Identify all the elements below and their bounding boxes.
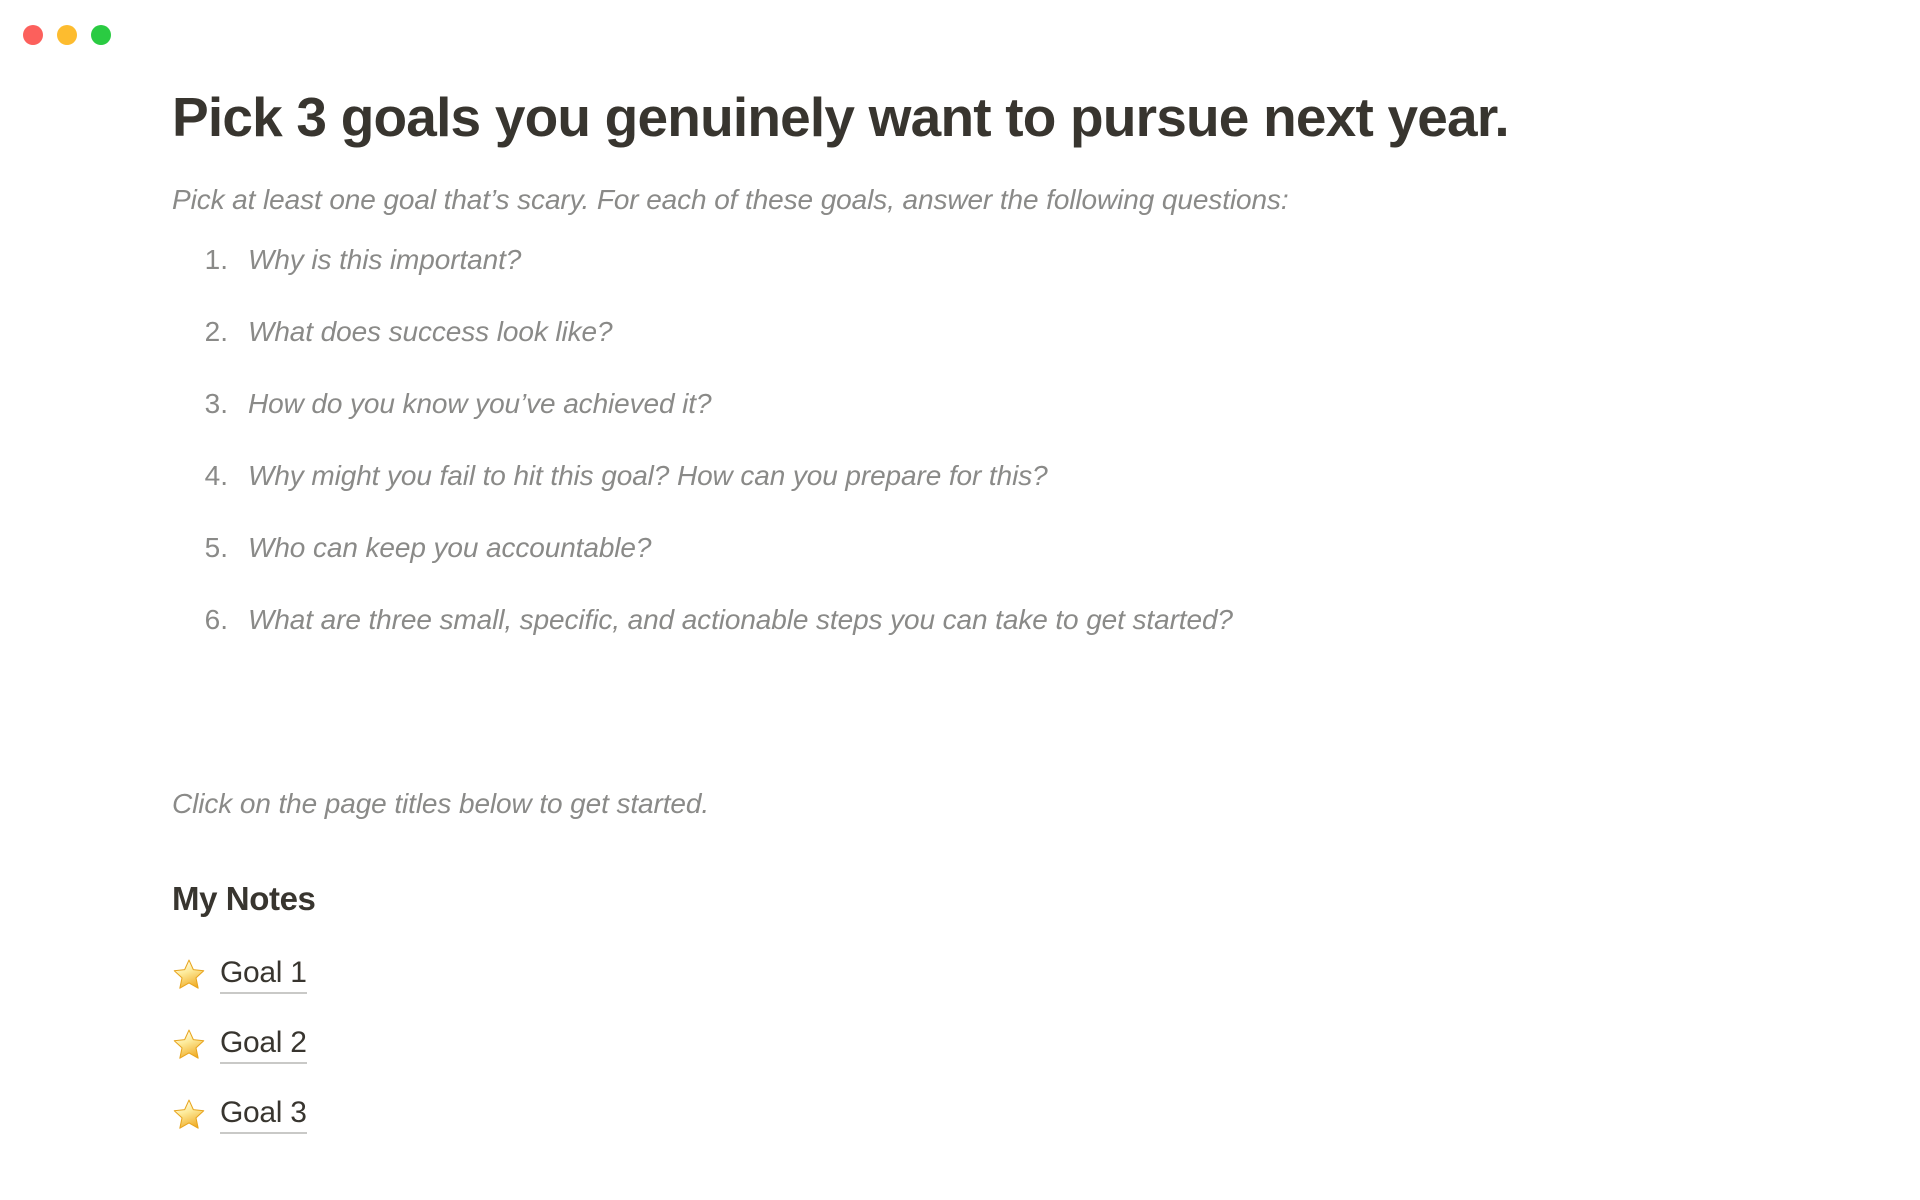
list-item-text: Why might you fail to hit this goal? How… — [248, 460, 1048, 492]
list-item-text: How do you know you’ve achieved it? — [248, 388, 711, 420]
star-emoji-icon — [172, 958, 206, 992]
traffic-light-buttons — [23, 25, 111, 45]
section-heading-my-notes: My Notes — [172, 880, 1860, 918]
goal-link-label[interactable]: Goal 1 — [220, 956, 307, 994]
list-item-text: Who can keep you accountable? — [248, 532, 651, 564]
list-item: 2. What does success look like? — [172, 316, 1860, 388]
question-list: 1. Why is this important? 2. What does s… — [172, 244, 1860, 676]
window-titlebar — [0, 0, 1920, 62]
list-item[interactable]: Goal 2 — [172, 1010, 1860, 1080]
call-to-action-text: Click on the page titles below to get st… — [172, 788, 1860, 820]
list-item-number: 6. — [172, 604, 228, 636]
list-item: 3. How do you know you’ve achieved it? — [172, 388, 1860, 460]
list-item: 1. Why is this important? — [172, 244, 1860, 316]
close-window-button[interactable] — [23, 25, 43, 45]
list-item-number: 5. — [172, 532, 228, 564]
star-emoji-icon — [172, 1028, 206, 1062]
goal-links-list: Goal 1 Goal 2 Goal 3 — [172, 940, 1860, 1150]
goal-link-label[interactable]: Goal 3 — [220, 1096, 307, 1134]
star-emoji-icon — [172, 1098, 206, 1132]
list-item-number: 1. — [172, 244, 228, 276]
page-subtitle: Pick at least one goal that’s scary. For… — [172, 181, 1860, 219]
list-item[interactable]: Goal 1 — [172, 940, 1860, 1010]
list-item-text: Why is this important? — [248, 244, 521, 276]
maximize-window-button[interactable] — [91, 25, 111, 45]
list-item[interactable]: Goal 3 — [172, 1080, 1860, 1150]
list-item-number: 4. — [172, 460, 228, 492]
list-item-number: 3. — [172, 388, 228, 420]
list-item-number: 2. — [172, 316, 228, 348]
list-item-text: What are three small, specific, and acti… — [248, 604, 1233, 636]
goal-link-label[interactable]: Goal 2 — [220, 1026, 307, 1064]
list-item-text: What does success look like? — [248, 316, 612, 348]
page-title: Pick 3 goals you genuinely want to pursu… — [172, 87, 1860, 149]
app-window: Pick 3 goals you genuinely want to pursu… — [0, 0, 1920, 1200]
list-item: 4. Why might you fail to hit this goal? … — [172, 460, 1860, 532]
list-item: 5. Who can keep you accountable? — [172, 532, 1860, 604]
list-item: 6. What are three small, specific, and a… — [172, 604, 1860, 676]
document-body: Pick 3 goals you genuinely want to pursu… — [0, 62, 1920, 1150]
minimize-window-button[interactable] — [57, 25, 77, 45]
